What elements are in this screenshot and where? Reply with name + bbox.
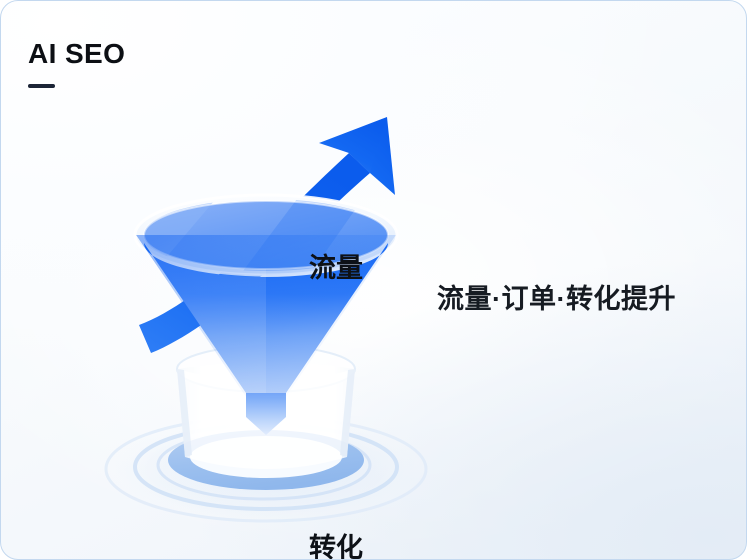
funnel-label-traffic: 流量	[309, 255, 363, 282]
funnel-label-conversion: 转化	[309, 535, 363, 560]
funnel-illustration: 流量 转化	[81, 97, 451, 537]
funnel-illustration-svg	[81, 97, 451, 537]
tagline-text: 流量·订单·转化提升	[437, 279, 676, 319]
poster-card: AI SEO 流量·订单·转化提升	[0, 0, 747, 560]
title-underline-rule	[28, 84, 55, 88]
brand-block: AI SEO	[28, 37, 125, 88]
page-title: AI SEO	[28, 37, 125, 71]
